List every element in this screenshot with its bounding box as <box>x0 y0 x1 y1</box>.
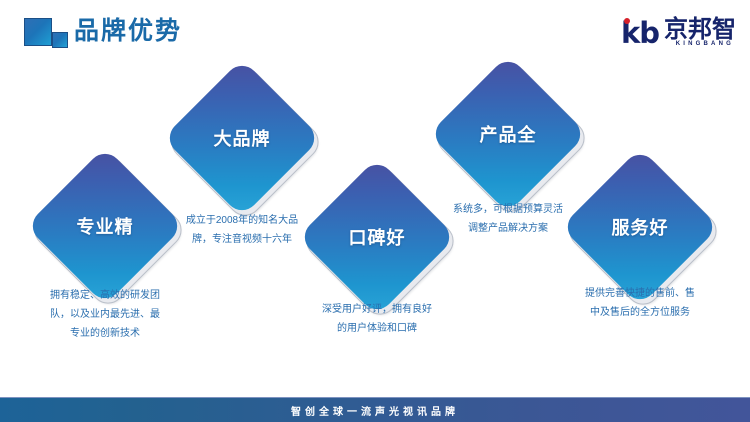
blue-square-small-icon <box>52 32 68 48</box>
logo-mark: kb <box>621 19 659 48</box>
feature-label-2: 大品牌 <box>186 82 298 194</box>
feature-label-1: 专业精 <box>49 170 161 282</box>
feature-diamond-2[interactable]: 大品牌 <box>186 82 298 194</box>
feature-description-5: 提供完善快捷的售前、售 中及售后的全方位服务 <box>550 284 730 322</box>
logo-text-block: 京邦智 KINGBANG <box>664 17 736 48</box>
feature-diamond-1[interactable]: 专业精 <box>49 170 161 282</box>
feature-label-5: 服务好 <box>584 171 696 283</box>
feature-description-1: 拥有稳定、高效的研发团 队，以及业内最先进、最 专业的创新技术 <box>15 286 195 343</box>
feature-diamond-3[interactable]: 口碑好 <box>321 181 433 293</box>
slide-header: 品牌优势 kb 京邦智 KINGBANG <box>0 0 750 62</box>
feature-diamond-4[interactable]: 产品全 <box>452 78 564 190</box>
blue-square-icon <box>24 18 52 46</box>
page-title: 品牌优势 <box>74 15 182 47</box>
logo-brand-cn: 京邦智 <box>664 17 736 42</box>
brand-logo: kb 京邦智 KINGBANG <box>621 14 736 48</box>
feature-diamond-5[interactable]: 服务好 <box>584 171 696 283</box>
slide-root: 品牌优势 kb 京邦智 KINGBANG 专业精 拥有稳定、高效的研发团 队，以… <box>0 0 750 422</box>
footer-slogan: 智创全球一流声光视讯品牌 <box>291 403 459 418</box>
feature-label-3: 口碑好 <box>321 181 433 293</box>
feature-description-3: 深受用户好评，拥有良好 的用户体验和口碑 <box>287 300 467 338</box>
slide-footer: 智创全球一流声光视讯品牌 <box>0 397 750 422</box>
red-dot-icon <box>624 18 630 24</box>
feature-label-4: 产品全 <box>452 78 564 190</box>
logo-brand-en: KINGBANG <box>676 40 736 48</box>
